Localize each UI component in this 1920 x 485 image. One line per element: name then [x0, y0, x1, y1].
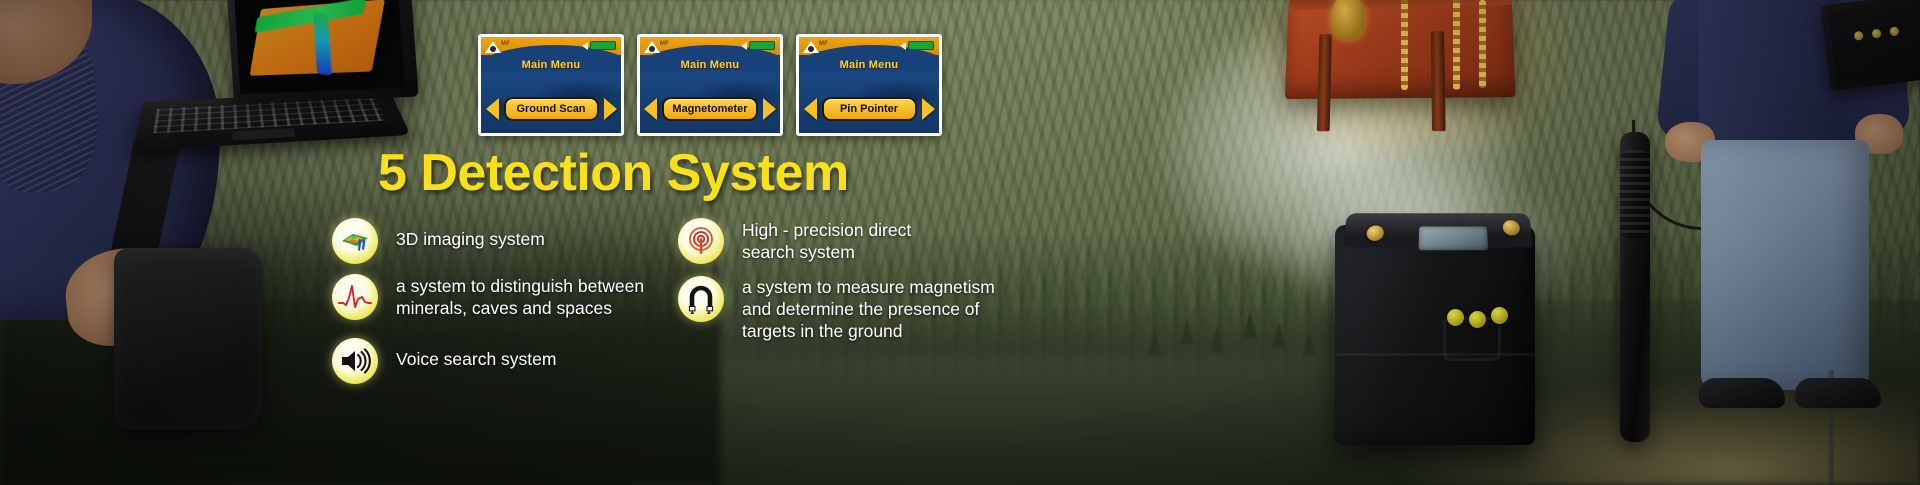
magnet-glyph: [687, 284, 715, 314]
feature-item-3d-imaging: 3D imaging system: [332, 218, 545, 264]
next-arrow-icon[interactable]: [763, 98, 776, 120]
page-title: 5 Detection System: [378, 143, 849, 203]
control-unit-screen: [1828, 0, 1920, 83]
feature-label: 3D imaging system: [396, 218, 545, 250]
signal-target-icon: [678, 218, 724, 264]
device-panel-ground-scan[interactable]: MF Main Menu Ground Scan: [478, 34, 624, 136]
battery-icon: [908, 41, 934, 50]
signal-target-glyph: [686, 226, 716, 256]
speaker-icon: [900, 42, 906, 50]
brand-logo-icon: [485, 39, 501, 53]
promo-banner: MF Main Menu Ground Scan MF: [0, 0, 1920, 485]
treasure-chest: [1283, 0, 1521, 130]
battery-icon: [749, 41, 775, 50]
brand-logo-icon: [644, 39, 660, 53]
feature-item-high-precision: High - precision direct search system: [678, 218, 911, 264]
panel-brand-label: MF: [819, 41, 828, 47]
3d-scan-icon: [332, 218, 378, 264]
handheld-control-unit: [1820, 0, 1920, 91]
laptop-trackpad: [232, 128, 295, 140]
device-panel-pin-pointer[interactable]: MF Main Menu Pin Pointer: [796, 34, 942, 136]
chest-band: [1317, 34, 1332, 131]
panel-brand-label: MF: [501, 41, 510, 47]
gold-chain: [1453, 0, 1460, 90]
panel-status-indicators: [582, 41, 616, 50]
feature-item-voice-search: Voice search system: [332, 338, 556, 384]
panel-mode-selector[interactable]: Magnetometer: [640, 97, 780, 121]
logo-dot: [649, 46, 655, 52]
brand-logo-icon: [803, 39, 819, 53]
panel-brand-label: MF: [660, 41, 669, 47]
panel-status-indicators: [900, 41, 934, 50]
waveform-pulse-icon: [332, 274, 378, 320]
panel-title: Main Menu: [481, 59, 621, 71]
laptop-screen: [234, 0, 405, 94]
panel-title: Main Menu: [799, 59, 939, 71]
feature-label: a system to distinguish between minerals…: [396, 274, 644, 319]
speaker-glyph: [339, 347, 371, 375]
prev-arrow-icon[interactable]: [644, 98, 657, 120]
mode-button[interactable]: Magnetometer: [662, 97, 757, 121]
prev-arrow-icon[interactable]: [486, 98, 499, 120]
battery-icon: [590, 41, 616, 50]
next-arrow-icon[interactable]: [604, 98, 617, 120]
feature-list: 3D imaging system a system to distinguis…: [0, 210, 1920, 440]
waveform-glyph: [338, 284, 372, 310]
3d-scan-glyph: [339, 227, 371, 255]
horseshoe-magnet-icon: [678, 276, 724, 322]
laptop-lid: [227, 0, 419, 103]
feature-label: Voice search system: [396, 338, 556, 370]
device-menu-panels: MF Main Menu Ground Scan MF: [478, 34, 942, 136]
gold-chain: [1479, 0, 1486, 88]
logo-dot: [808, 46, 814, 52]
mode-button[interactable]: Pin Pointer: [822, 97, 917, 121]
next-arrow-icon[interactable]: [922, 98, 935, 120]
feature-item-mineral-distinction: a system to distinguish between minerals…: [332, 274, 644, 320]
panel-mode-selector[interactable]: Pin Pointer: [799, 97, 939, 121]
chest-lock: [1331, 0, 1365, 40]
speaker-icon: [582, 42, 588, 50]
mode-button[interactable]: Ground Scan: [504, 97, 599, 121]
laptop-keyboard: [153, 97, 385, 133]
feature-label: a system to measure magnetism and determ…: [742, 276, 995, 342]
logo-dot: [490, 46, 496, 52]
gold-chain: [1401, 0, 1408, 90]
prev-arrow-icon[interactable]: [804, 98, 817, 120]
panel-title: Main Menu: [640, 59, 780, 71]
feature-item-magnetism: a system to measure magnetism and determ…: [678, 276, 995, 342]
panel-status-indicators: [741, 41, 775, 50]
device-panel-magnetometer[interactable]: MF Main Menu Magnetometer: [637, 34, 783, 136]
panel-mode-selector[interactable]: Ground Scan: [481, 97, 621, 121]
speaker-icon: [741, 42, 747, 50]
chest-band: [1431, 31, 1446, 131]
feature-label: High - precision direct search system: [742, 218, 911, 263]
laptop: [140, 0, 408, 160]
speaker-sound-icon: [332, 338, 378, 384]
